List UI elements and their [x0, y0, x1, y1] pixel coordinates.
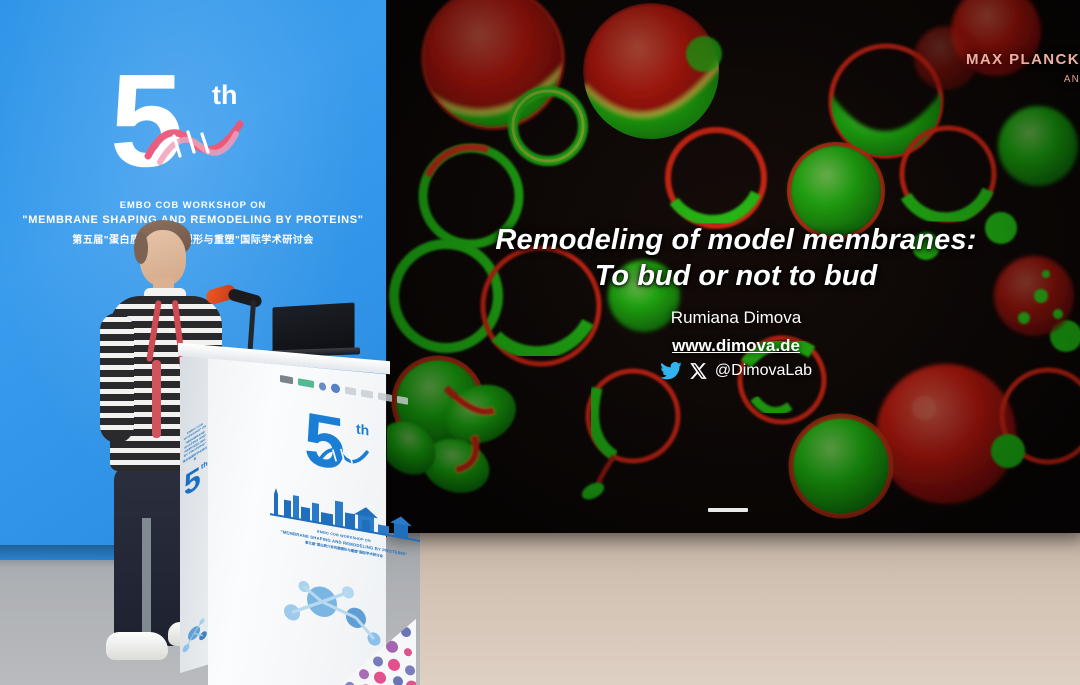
sponsor-logo-6	[361, 389, 373, 398]
dna-helix-icon	[140, 112, 250, 167]
sponsor-logo-3	[319, 381, 327, 390]
speaker-hair-side	[134, 232, 148, 264]
sponsor-logo-4	[331, 383, 340, 394]
molecule-graphic-side	[182, 613, 208, 659]
podium-side-panel: EMBO COB WORKSHOP ON "MEMBRANE SHAPING A…	[180, 348, 210, 673]
speaker-arm	[100, 313, 134, 443]
podium-logo: 5 th	[304, 405, 390, 496]
laptop-screen	[273, 303, 355, 354]
sponsor-logo-7	[378, 392, 391, 401]
backdrop-line1: EMBO COB WORKSHOP ON	[0, 200, 386, 211]
leg-gap	[142, 518, 151, 648]
sponsor-logo-5	[345, 387, 356, 396]
floral-pattern-graphic	[320, 610, 416, 685]
podium-side-logo: 5 th	[184, 459, 208, 502]
backdrop-logo-number: 5	[110, 62, 179, 180]
sponsor-logo-8	[397, 396, 409, 405]
photo-stage: MAX PLANCK AN Remodeling of model membra…	[0, 0, 1080, 685]
floral-pattern-panel	[320, 610, 416, 685]
floor-right-section	[420, 530, 1080, 685]
podium-logo-ordinal: th	[356, 420, 369, 438]
podium-front-panel: 5 th	[208, 358, 386, 685]
podium-sponsor-logo-row	[280, 374, 408, 406]
backdrop-logo: 5 th	[110, 62, 280, 192]
backdrop-logo-ordinal: th	[212, 80, 237, 111]
sponsor-logo-2	[298, 378, 313, 388]
lanyard-body	[152, 360, 161, 438]
screen-frame	[384, 0, 1080, 537]
podium: EMBO COB WORKSHOP ON "MEMBRANE SHAPING A…	[180, 352, 412, 685]
speaker-shoe-left	[106, 632, 168, 660]
sponsor-logo-embo	[280, 375, 293, 384]
